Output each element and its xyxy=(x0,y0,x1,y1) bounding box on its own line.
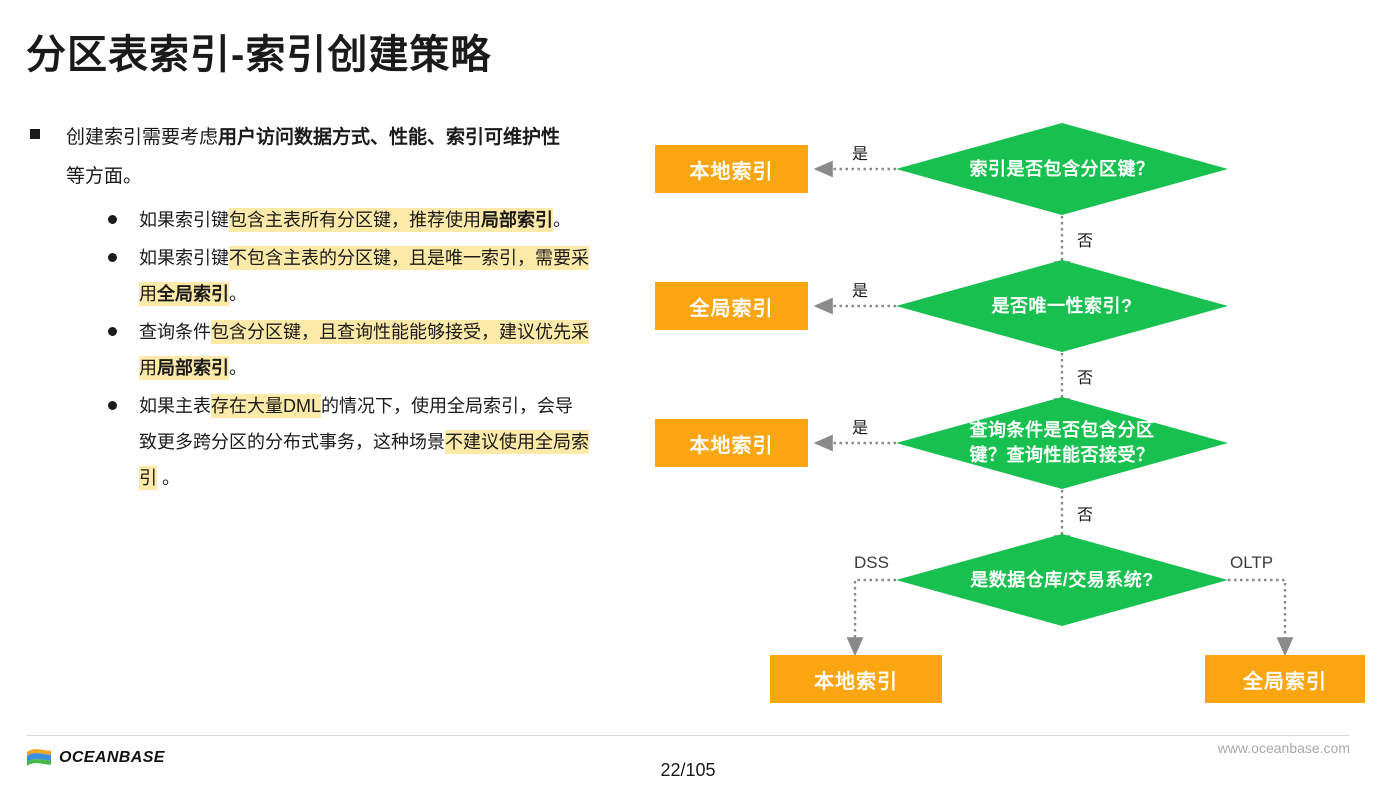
terminal-global-index-2[interactable]: 全局索引 xyxy=(1205,655,1365,703)
list-item-level1: 创建索引需要考虑用户访问数据方式、性能、索引可维护性等方面。 xyxy=(30,118,630,196)
dot-bullet-icon xyxy=(108,253,117,262)
decision-label: 是否唯一性索引? xyxy=(982,294,1143,319)
level2-text: 如果索引键包含主表所有分区键，推荐使用局部索引。 xyxy=(139,202,571,238)
decision-label: 查询条件是否包含分区 键？查询性能否接受？ xyxy=(960,418,1165,468)
dot-bullet-icon xyxy=(108,327,117,336)
bullet-content: 创建索引需要考虑用户访问数据方式、性能、索引可维护性等方面。 如果索引键包含主表… xyxy=(30,118,630,498)
footer-divider xyxy=(26,735,1350,736)
list-item: 查询条件包含分区键，且查询性能能够接受，建议优先采用局部索引。 xyxy=(108,314,630,386)
page-title: 分区表索引-索引创建策略 xyxy=(26,22,491,80)
edge-label-yes-2: 是 xyxy=(852,277,868,301)
slide: 分区表索引-索引创建策略 创建索引需要考虑用户访问数据方式、性能、索引可维护性等… xyxy=(0,0,1376,793)
terminal-local-index-2[interactable]: 本地索引 xyxy=(655,419,808,467)
decision-label: 索引是否包含分区键？ xyxy=(960,157,1165,182)
level2-text: 查询条件包含分区键，且查询性能能够接受，建议优先采用局部索引。 xyxy=(139,314,589,386)
level2-text: 如果索引键不包含主表的分区键，且是唯一索引，需要采用全局索引。 xyxy=(139,240,589,312)
edge-label-no-3: 否 xyxy=(1077,501,1093,525)
dot-bullet-icon xyxy=(108,401,117,410)
list-item: 如果主表存在大量DML的情况下，使用全局索引，会导致更多跨分区的分布式事务，这种… xyxy=(108,388,630,496)
terminal-label: 全局索引 xyxy=(1243,665,1327,694)
terminal-label: 全局索引 xyxy=(690,292,774,321)
list-item: 如果索引键包含主表所有分区键，推荐使用局部索引。 xyxy=(108,202,630,238)
page-number: 22/105 xyxy=(0,760,1376,781)
edge-label-dss: DSS xyxy=(854,553,889,573)
decision-node-index-contains-partition-key[interactable]: 索引是否包含分区键？ xyxy=(896,123,1228,215)
terminal-local-index-3[interactable]: 本地索引 xyxy=(770,655,942,703)
edge-label-oltp: OLTP xyxy=(1230,553,1273,573)
edge-label-yes-1: 是 xyxy=(852,140,868,164)
terminal-label: 本地索引 xyxy=(690,155,774,184)
terminal-global-index-1[interactable]: 全局索引 xyxy=(655,282,808,330)
decision-node-query-condition[interactable]: 查询条件是否包含分区 键？查询性能否接受？ xyxy=(896,397,1228,489)
dot-bullet-icon xyxy=(108,215,117,224)
decision-node-warehouse-or-oltp[interactable]: 是数据仓库/交易系统? xyxy=(896,534,1228,626)
level1-text: 创建索引需要考虑用户访问数据方式、性能、索引可维护性等方面。 xyxy=(66,118,571,196)
terminal-label: 本地索引 xyxy=(690,429,774,458)
edge-label-no-1: 否 xyxy=(1077,227,1093,251)
square-bullet-icon xyxy=(30,129,40,139)
decision-node-unique-index[interactable]: 是否唯一性索引? xyxy=(896,260,1228,352)
list-item: 如果索引键不包含主表的分区键，且是唯一索引，需要采用全局索引。 xyxy=(108,240,630,312)
level2-list: 如果索引键包含主表所有分区键，推荐使用局部索引。 如果索引键不包含主表的分区键，… xyxy=(30,202,630,496)
decision-flowchart: 本地索引 索引是否包含分区键？ 是 否 全局索引 是否唯一性索引? 是 否 本地… xyxy=(640,110,1376,720)
level2-text: 如果主表存在大量DML的情况下，使用全局索引，会导致更多跨分区的分布式事务，这种… xyxy=(139,388,589,496)
decision-label: 是数据仓库/交易系统? xyxy=(960,568,1164,593)
terminal-label: 本地索引 xyxy=(814,665,898,694)
edge-label-yes-3: 是 xyxy=(852,414,868,438)
terminal-local-index-1[interactable]: 本地索引 xyxy=(655,145,808,193)
site-url: www.oceanbase.com xyxy=(1218,740,1350,756)
edge-label-no-2: 否 xyxy=(1077,364,1093,388)
